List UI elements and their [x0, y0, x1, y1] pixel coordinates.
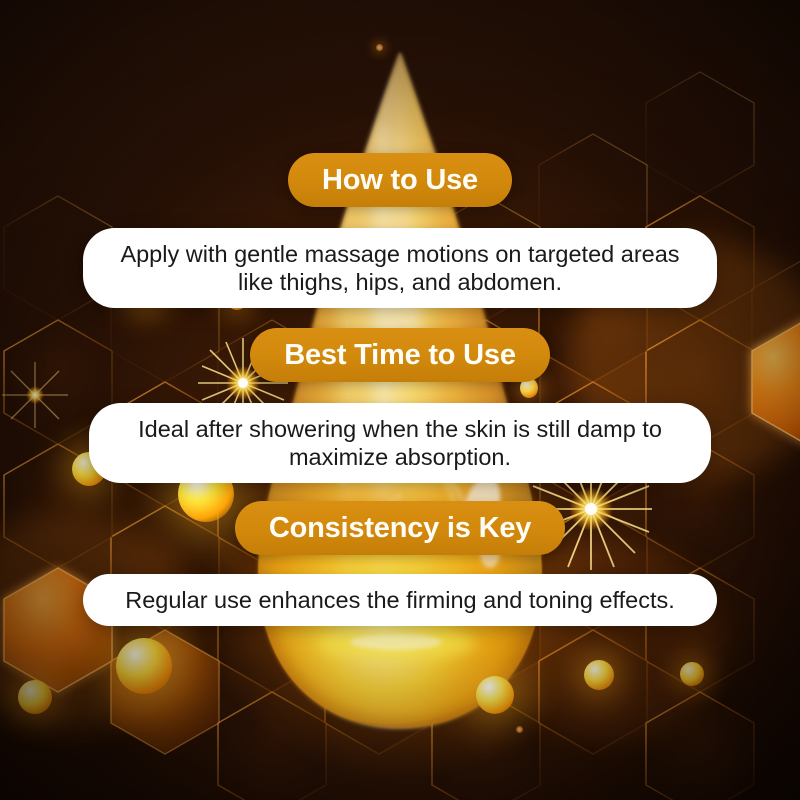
body-card-3: Regular use enhances the firming and ton… — [83, 574, 717, 626]
section-body-best-time-to-use: Ideal after showering when the skin is s… — [0, 403, 800, 483]
section-heading-how-to-use: How to Use — [0, 153, 800, 207]
section-body-consistency-is-key: Regular use enhances the firming and ton… — [0, 574, 800, 626]
heading-pill-1: How to Use — [288, 153, 512, 207]
section-heading-best-time-to-use: Best Time to Use — [0, 328, 800, 382]
heading-pill-2: Best Time to Use — [250, 328, 550, 382]
content-stack: How to Use Apply with gentle massage mot… — [0, 0, 800, 800]
heading-pill-3: Consistency is Key — [235, 501, 565, 555]
infographic-poster: How to Use Apply with gentle massage mot… — [0, 0, 800, 800]
section-heading-consistency-is-key: Consistency is Key — [0, 501, 800, 555]
section-body-how-to-use: Apply with gentle massage motions on tar… — [0, 228, 800, 308]
body-card-1: Apply with gentle massage motions on tar… — [83, 228, 717, 308]
body-card-2: Ideal after showering when the skin is s… — [89, 403, 711, 483]
